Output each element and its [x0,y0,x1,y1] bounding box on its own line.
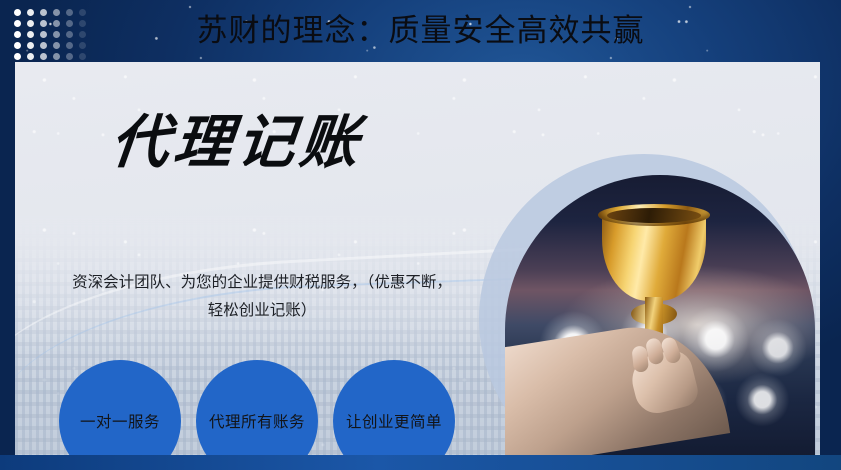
trophy-photo [505,175,815,455]
dot [40,53,47,60]
slide-canvas: 苏财的理念：质量安全高效共赢 [0,0,841,470]
footer-strip [0,455,841,470]
badge-circle-1[interactable]: 一对一服务 [59,360,181,455]
badge-label: 一对一服务 [80,410,160,432]
dot [27,53,34,60]
badge-label: 让创业更简单 [346,410,442,432]
dot [14,53,21,60]
content-panel: 代理记账 资深会计团队、为您的企业提供财税服务，（优惠不断，轻松创业记账） 一对… [15,62,820,455]
headline-title: 代理记账 [108,114,366,172]
badge-group: 一对一服务代理所有账务让创业更简单 [59,360,455,455]
description-text: 资深会计团队、为您的企业提供财税服务，（优惠不断，轻松创业记账） [67,269,457,325]
page-title: 苏财的理念：质量安全高效共赢 [0,9,841,53]
badge-circle-3[interactable]: 让创业更简单 [333,360,455,455]
badge-label: 代理所有账务 [209,410,305,432]
badge-circle-2[interactable]: 代理所有账务 [196,360,318,455]
dot [79,53,86,60]
dot [53,53,60,60]
dot [66,53,73,60]
